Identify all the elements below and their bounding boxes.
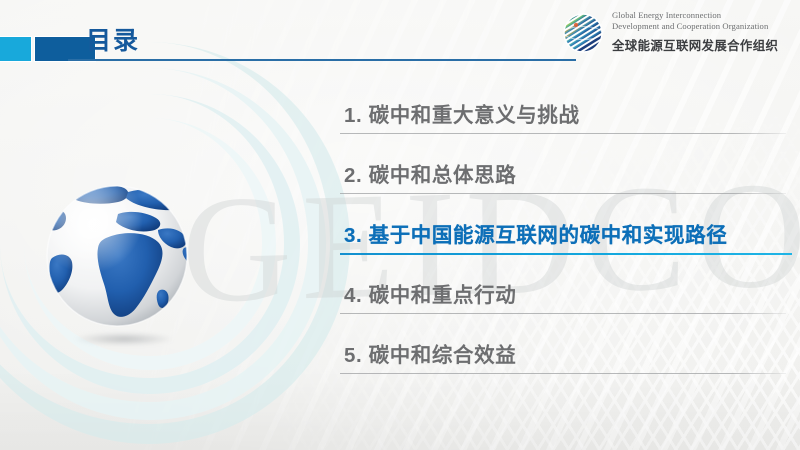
toc-item-2[interactable]: 2. 碳中和总体思路 [340, 152, 790, 212]
logo-text-block: Global Energy Interconnection Developmen… [612, 10, 798, 54]
toc-item-2-label: 2. 碳中和总体思路 [344, 158, 516, 188]
logo-english-line-1: Global Energy Interconnection [612, 10, 798, 21]
slide-root: GEIDCO 目录 [0, 0, 800, 450]
toc-item-4-label: 4. 碳中和重点行动 [344, 278, 516, 308]
geidco-logo: Global Energy Interconnection Developmen… [560, 8, 796, 62]
page-title: 目录 [86, 21, 140, 57]
toc-item-3[interactable]: 3. 基于中国能源互联网的碳中和实现路径 [340, 212, 790, 272]
geidco-globe-emblem-icon [560, 10, 606, 56]
toc-item-3-separator [340, 253, 792, 255]
toc-item-4[interactable]: 4. 碳中和重点行动 [340, 272, 790, 332]
toc-item-3-label: 3. 基于中国能源互联网的碳中和实现路径 [344, 218, 727, 248]
header-accent-square-cyan [0, 36, 32, 62]
table-of-contents: 1. 碳中和重大意义与挑战 2. 碳中和总体思路 3. 基于中国能源互联网的碳中… [340, 92, 790, 392]
toc-item-5-separator [340, 373, 786, 374]
globe-shadow [54, 330, 194, 348]
toc-item-4-separator [340, 313, 786, 314]
world-globe-graphic [32, 178, 232, 378]
toc-item-1[interactable]: 1. 碳中和重大意义与挑战 [340, 92, 790, 152]
toc-item-1-separator [340, 133, 786, 134]
toc-item-5[interactable]: 5. 碳中和综合效益 [340, 332, 790, 392]
logo-english-line-2: Development and Cooperation Organization [612, 21, 798, 32]
toc-item-5-label: 5. 碳中和综合效益 [344, 338, 516, 368]
toc-item-2-separator [340, 193, 786, 194]
toc-item-1-label: 1. 碳中和重大意义与挑战 [344, 98, 580, 128]
header-underline [68, 59, 576, 61]
logo-chinese: 全球能源互联网发展合作组织 [612, 36, 798, 54]
